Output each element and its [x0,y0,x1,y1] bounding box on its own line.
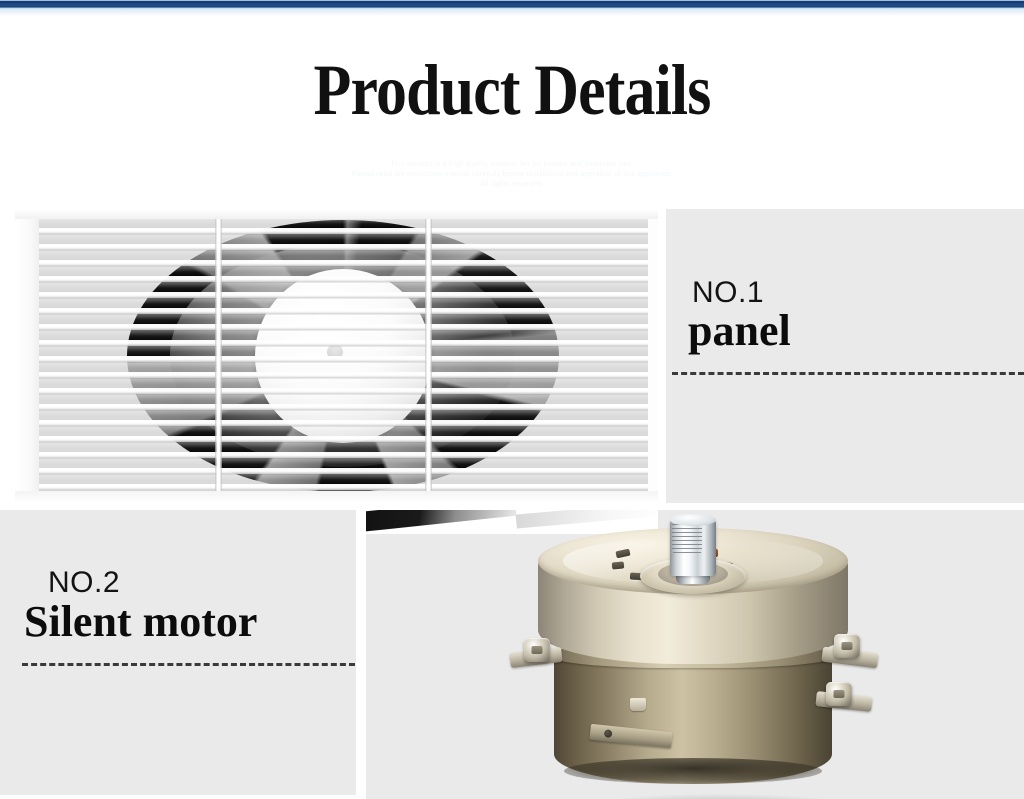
watermark-line-2: Please read the instruction manual caref… [0,170,1024,180]
fan-grille-opening [37,219,648,492]
top-blue-divider [0,0,1024,9]
fan-louver-sheen [37,219,648,492]
motor-photo-stage [366,510,1024,799]
fan-photo-stage [15,209,658,503]
silent-motor-photo [366,510,1024,799]
feature-name-label: panel [688,307,791,355]
feature-name-label: Silent motor [24,598,257,646]
motor-vent-slot [612,561,625,569]
caption-dashed-rule [22,663,355,666]
fan-vertical-rib [425,219,432,492]
fan-frame-left-edge [15,209,39,503]
page-title: Product Details [72,52,953,128]
watermark-line-3: All rights reserved. [0,180,1024,190]
top-divider-shadow [0,9,1024,16]
motor-lower-drum-shading [564,758,822,784]
feature-caption-panel-2: NO.2 Silent motor [0,510,356,795]
fan-frame-bottom-edge [15,491,658,503]
motor-assembly [504,522,882,794]
fan-vertical-rib [215,219,222,492]
feature-number-label: NO.2 [48,567,120,599]
fan-frame-top-edge [15,209,658,219]
motor-mounting-bolt [834,634,860,658]
motor-housing-notch [630,698,646,711]
watermark-line-1: This product is a high quality exhaust f… [0,160,1024,170]
background-watermark-text: This product is a high quality exhaust f… [0,160,1024,190]
feature-caption-panel-1: NO.1 panel [666,209,1024,503]
feature-number-label: NO.1 [692,277,764,309]
motor-floor-shadow [600,794,840,799]
sliver-dark-blade [366,510,517,532]
motor-mounting-bolt [826,682,852,706]
motor-mounting-bolt [524,638,550,662]
caption-dashed-rule [672,372,1024,375]
motor-shaft-tip [670,514,716,526]
fan-louver-panel-photo [15,209,658,503]
